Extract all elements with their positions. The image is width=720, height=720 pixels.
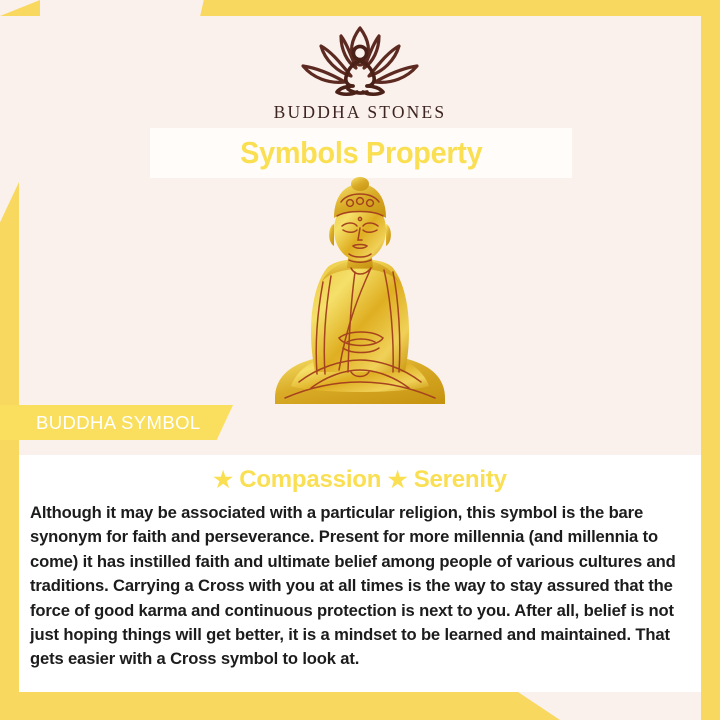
star-icon-second: ★ [388,467,408,492]
left-accent-band [0,182,19,720]
bottom-accent-band [0,692,560,720]
top-accent-band [0,0,720,16]
trait-serenity: Serenity [414,466,507,493]
brand-header: BUDDHA STONES [0,22,720,123]
title-plate: Symbols Property [150,128,572,178]
infographic-page: BUDDHA STONES Symbols Property [0,0,720,720]
buddha-symbol-label: BUDDHA SYMBOL [0,412,201,434]
star-icon-first: ★ [213,467,233,492]
brand-name: BUDDHA STONES [0,102,720,123]
seated-golden-buddha-illustration [255,172,465,412]
traits-line: ★ Compassion ★ Serenity [19,466,701,494]
trait-compassion: Compassion [239,466,381,493]
description-text: Although it may be associated with a par… [30,501,688,672]
top-accent-band-diagonal [0,0,40,16]
buddha-symbol-ribbon: BUDDHA SYMBOL [0,405,233,440]
page-title: Symbols Property [240,135,482,171]
description-card: ★ Compassion ★ Serenity Although it may … [19,455,701,692]
lotus-meditation-figure-icon [285,22,435,98]
